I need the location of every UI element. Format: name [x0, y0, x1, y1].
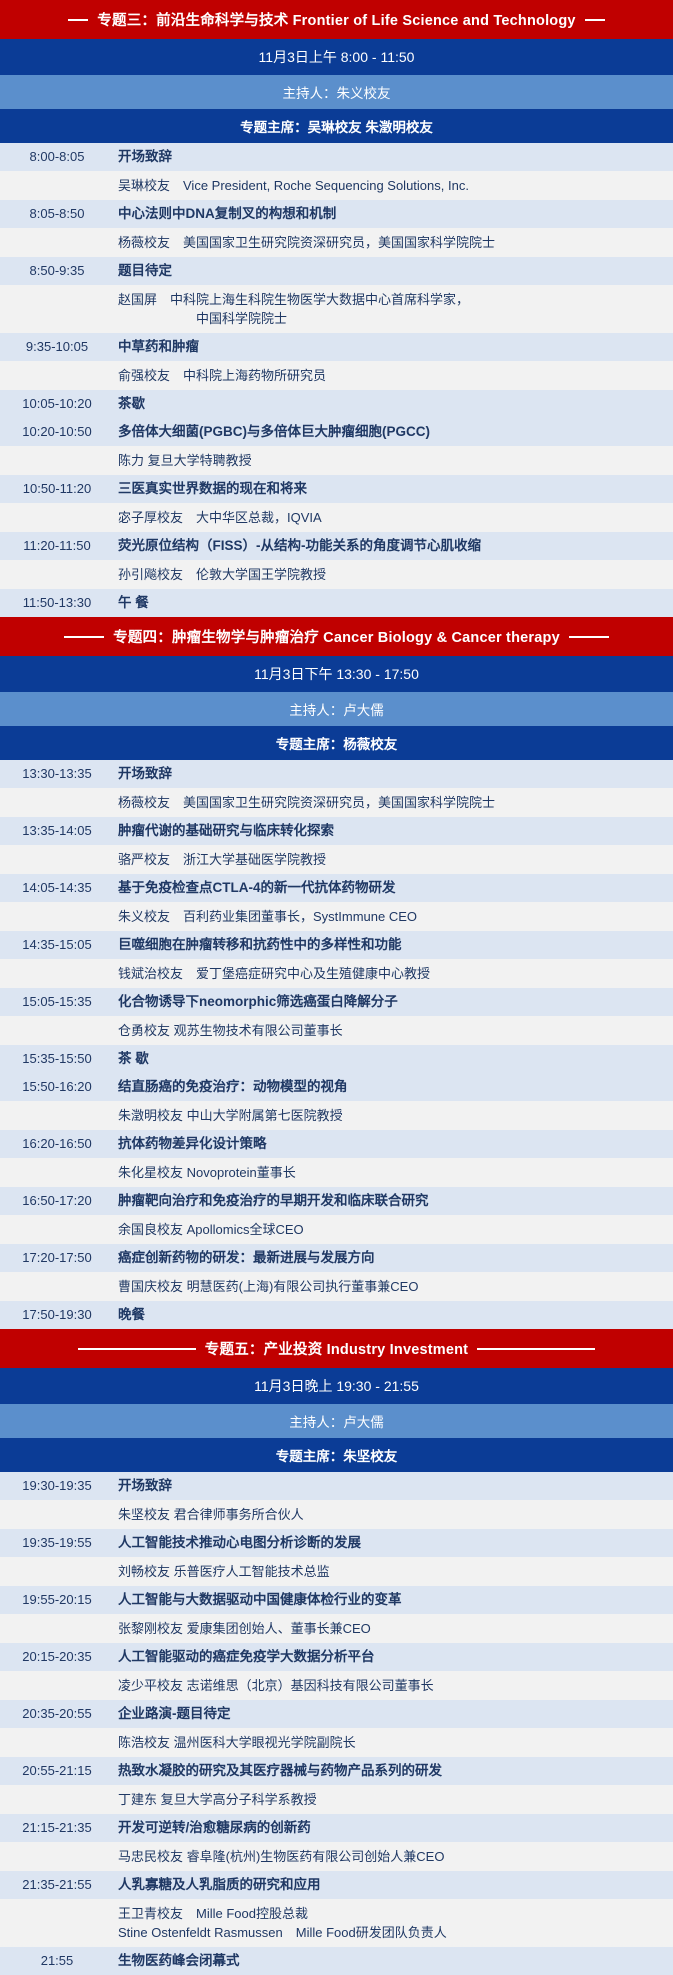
agenda-speaker-row: 杨薇校友 美国国家卫生研究院资深研究员，美国国家科学院院士 — [0, 228, 673, 257]
agenda-title-cell: 生物医药峰会闭幕式 — [118, 1952, 673, 1970]
section-date-bar: 11月3日晚上 19:30 - 21:55 — [0, 1368, 673, 1404]
agenda-speaker-cell: 陈力 复旦大学特聘教授 — [118, 451, 673, 470]
agenda-talk-title: 开发可逆转/治愈糖尿病的创新药 — [118, 1819, 665, 1837]
agenda-speaker-cell: 张黎刚校友 爱康集团创始人、董事长兼CEO — [118, 1619, 673, 1638]
agenda-speaker-cell: 吴琳校友 Vice President, Roche Sequencing So… — [118, 176, 673, 195]
agenda-time: 8:00-8:05 — [0, 148, 118, 166]
agenda-title-cell: 荧光原位结构（FISS）-从结构-功能关系的角度调节心肌收缩 — [118, 537, 673, 555]
agenda-talk-title: 中草药和肿瘤 — [118, 338, 665, 356]
agenda-time: 17:50-19:30 — [0, 1306, 118, 1324]
banner-rule-right-icon — [477, 1348, 595, 1350]
agenda-speaker-cell: 杨薇校友 美国国家卫生研究院资深研究员，美国国家科学院院士 — [118, 793, 673, 812]
agenda-time: 8:05-8:50 — [0, 205, 118, 223]
agenda-speaker-row: 朱澂明校友 中山大学附属第七医院教授 — [0, 1101, 673, 1130]
agenda-time: 9:35-10:05 — [0, 338, 118, 356]
agenda-speaker-row: 宓子厚校友 大中华区总裁，IQVIA — [0, 503, 673, 532]
agenda-speaker-cell: 朱化星校友 Novoprotein董事长 — [118, 1163, 673, 1182]
agenda-title-cell: 基于免疫检查点CTLA-4的新一代抗体药物研发 — [118, 879, 673, 897]
conference-agenda: 专题三：前沿生命科学与技术 Frontier of Life Science a… — [0, 0, 673, 1975]
agenda-speaker-affiliation: 朱澂明校友 中山大学附属第七医院教授 — [118, 1106, 665, 1125]
agenda-talk-title: 晚餐 — [118, 1306, 665, 1324]
agenda-speaker-affiliation: 王卫青校友 Mille Food控股总裁 Stine Ostenfeldt Ra… — [118, 1904, 665, 1942]
agenda-talk-title: 生物医药峰会闭幕式 — [118, 1952, 665, 1970]
agenda-talk-title: 癌症创新药物的研发：最新进展与发展方向 — [118, 1249, 665, 1267]
agenda-title-row: 19:30-19:35开场致辞 — [0, 1472, 673, 1500]
agenda-time: 14:35-15:05 — [0, 936, 118, 954]
agenda-title-row: 20:55-21:15热致水凝胶的研究及其医疗器械与药物产品系列的研发 — [0, 1757, 673, 1785]
agenda-speaker-cell: 朱澂明校友 中山大学附属第七医院教授 — [118, 1106, 673, 1125]
agenda-speaker-cell: 曹国庆校友 明慧医药(上海)有限公司执行董事兼CEO — [118, 1277, 673, 1296]
section-chair-bar: 专题主席：朱坚校友 — [0, 1438, 673, 1472]
agenda-speaker-affiliation: 杨薇校友 美国国家卫生研究院资深研究员，美国国家科学院院士 — [118, 793, 665, 812]
agenda-title-cell: 茶歇 — [118, 395, 673, 413]
agenda-time: 10:50-11:20 — [0, 480, 118, 498]
banner-rule-right-icon — [585, 19, 605, 21]
agenda-time: 15:05-15:35 — [0, 993, 118, 1011]
agenda-title-cell: 癌症创新药物的研发：最新进展与发展方向 — [118, 1249, 673, 1267]
agenda-talk-title: 三医真实世界数据的现在和将来 — [118, 480, 665, 498]
agenda-time: 11:20-11:50 — [0, 537, 118, 555]
agenda-speaker-cell: 孙引飚校友 伦敦大学国王学院教授 — [118, 565, 673, 584]
agenda-speaker-row: 俞强校友 中科院上海药物所研究员 — [0, 361, 673, 390]
agenda-time: 10:20-10:50 — [0, 423, 118, 441]
agenda-speaker-cell: 余国良校友 Apollomics全球CEO — [118, 1220, 673, 1239]
agenda-title-row: 15:35-15:50茶 歇 — [0, 1045, 673, 1073]
agenda-title-row: 11:50-13:30午 餐 — [0, 589, 673, 617]
agenda-speaker-row: 朱义校友 百利药业集团董事长，SystImmune CEO — [0, 902, 673, 931]
banner-rule-left-icon — [78, 1348, 196, 1350]
section-title: 专题五：产业投资 Industry Investment — [205, 1338, 468, 1359]
agenda-title-cell: 开场致辞 — [118, 148, 673, 166]
agenda-talk-title: 中心法则中DNA复制叉的构想和机制 — [118, 205, 665, 223]
agenda-title-cell: 抗体药物差异化设计策略 — [118, 1135, 673, 1153]
agenda-talk-title: 结直肠癌的免疫治疗：动物模型的视角 — [118, 1078, 665, 1096]
agenda-title-cell: 中草药和肿瘤 — [118, 338, 673, 356]
agenda-title-cell: 肿瘤靶向治疗和免疫治疗的早期开发和临床联合研究 — [118, 1192, 673, 1210]
agenda-speaker-cell: 马忠民校友 睿阜隆(杭州)生物医药有限公司创始人兼CEO — [118, 1847, 673, 1866]
agenda-speaker-affiliation: 杨薇校友 美国国家卫生研究院资深研究员，美国国家科学院院士 — [118, 233, 665, 252]
agenda-speaker-affiliation: 陈力 复旦大学特聘教授 — [118, 451, 665, 470]
agenda-time: 19:55-20:15 — [0, 1591, 118, 1609]
section-date-bar: 11月3日下午 13:30 - 17:50 — [0, 656, 673, 692]
agenda-title-cell: 人工智能技术推动心电图分析诊断的发展 — [118, 1534, 673, 1552]
agenda-time: 19:30-19:35 — [0, 1477, 118, 1495]
agenda-title-cell: 三医真实世界数据的现在和将来 — [118, 480, 673, 498]
agenda-title-cell: 人乳寡糖及人乳脂质的研究和应用 — [118, 1876, 673, 1894]
agenda-speaker-cell: 骆严校友 浙江大学基础医学院教授 — [118, 850, 673, 869]
agenda-speaker-affiliation: 刘畅校友 乐普医疗人工智能技术总监 — [118, 1562, 665, 1581]
agenda-title-row: 17:50-19:30晚餐 — [0, 1301, 673, 1329]
agenda-title-row: 20:15-20:35人工智能驱动的癌症免疫学大数据分析平台 — [0, 1643, 673, 1671]
agenda-title-cell: 热致水凝胶的研究及其医疗器械与药物产品系列的研发 — [118, 1762, 673, 1780]
agenda-talk-title: 荧光原位结构（FISS）-从结构-功能关系的角度调节心肌收缩 — [118, 537, 665, 555]
section-banner: 专题三：前沿生命科学与技术 Frontier of Life Science a… — [0, 0, 673, 39]
section-date-bar: 11月3日上午 8:00 - 11:50 — [0, 39, 673, 75]
agenda-talk-title: 开场致辞 — [118, 148, 665, 166]
agenda-time: 13:35-14:05 — [0, 822, 118, 840]
agenda-speaker-cell: 刘畅校友 乐普医疗人工智能技术总监 — [118, 1562, 673, 1581]
agenda-title-cell: 题目待定 — [118, 262, 673, 280]
agenda-speaker-row: 朱化星校友 Novoprotein董事长 — [0, 1158, 673, 1187]
agenda-talk-title: 抗体药物差异化设计策略 — [118, 1135, 665, 1153]
agenda-time: 20:55-21:15 — [0, 1762, 118, 1780]
agenda-speaker-affiliation: 钱斌治校友 爱丁堡癌症研究中心及生殖健康中心教授 — [118, 964, 665, 983]
agenda-speaker-affiliation: 朱坚校友 君合律师事务所合伙人 — [118, 1505, 665, 1524]
section-banner: 专题五：产业投资 Industry Investment — [0, 1329, 673, 1368]
agenda-talk-title: 题目待定 — [118, 262, 665, 280]
agenda-speaker-affiliation: 宓子厚校友 大中华区总裁，IQVIA — [118, 508, 665, 527]
agenda-title-row: 15:50-16:20结直肠癌的免疫治疗：动物模型的视角 — [0, 1073, 673, 1101]
agenda-talk-title: 开场致辞 — [118, 765, 665, 783]
agenda-time: 15:50-16:20 — [0, 1078, 118, 1096]
agenda-speaker-cell: 朱坚校友 君合律师事务所合伙人 — [118, 1505, 673, 1524]
agenda-talk-title: 茶歇 — [118, 395, 665, 413]
agenda-speaker-cell: 杨薇校友 美国国家卫生研究院资深研究员，美国国家科学院院士 — [118, 233, 673, 252]
agenda-title-row: 8:05-8:50中心法则中DNA复制叉的构想和机制 — [0, 200, 673, 228]
agenda-title-cell: 开发可逆转/治愈糖尿病的创新药 — [118, 1819, 673, 1837]
section-title: 专题三：前沿生命科学与技术 Frontier of Life Science a… — [97, 9, 575, 30]
agenda-speaker-row: 余国良校友 Apollomics全球CEO — [0, 1215, 673, 1244]
agenda-title-row: 19:55-20:15人工智能与大数据驱动中国健康体检行业的变革 — [0, 1586, 673, 1614]
agenda-talk-title: 人工智能与大数据驱动中国健康体检行业的变革 — [118, 1591, 665, 1609]
agenda-title-row: 8:00-8:05开场致辞 — [0, 143, 673, 171]
agenda-speaker-affiliation: 曹国庆校友 明慧医药(上海)有限公司执行董事兼CEO — [118, 1277, 665, 1296]
agenda-talk-title: 巨噬细胞在肿瘤转移和抗药性中的多样性和功能 — [118, 936, 665, 954]
agenda-title-row: 11:20-11:50荧光原位结构（FISS）-从结构-功能关系的角度调节心肌收… — [0, 532, 673, 560]
agenda-time: 19:35-19:55 — [0, 1534, 118, 1552]
agenda-speaker-cell: 宓子厚校友 大中华区总裁，IQVIA — [118, 508, 673, 527]
agenda-talk-title: 多倍体大细菌(PGBC)与多倍体巨大肿瘤细胞(PGCC) — [118, 423, 665, 441]
agenda-speaker-cell: 王卫青校友 Mille Food控股总裁 Stine Ostenfeldt Ra… — [118, 1904, 673, 1942]
agenda-speaker-row: 朱坚校友 君合律师事务所合伙人 — [0, 1500, 673, 1529]
agenda-time: 21:35-21:55 — [0, 1876, 118, 1894]
agenda-speaker-cell: 钱斌治校友 爱丁堡癌症研究中心及生殖健康中心教授 — [118, 964, 673, 983]
agenda-talk-title: 茶 歇 — [118, 1050, 665, 1068]
agenda-time: 20:15-20:35 — [0, 1648, 118, 1666]
agenda-speaker-row: 陈力 复旦大学特聘教授 — [0, 446, 673, 475]
agenda-speaker-cell: 仓勇校友 观苏生物技术有限公司董事长 — [118, 1021, 673, 1040]
agenda-speaker-cell: 朱义校友 百利药业集团董事长，SystImmune CEO — [118, 907, 673, 926]
agenda-title-row: 16:20-16:50抗体药物差异化设计策略 — [0, 1130, 673, 1158]
agenda-speaker-row: 马忠民校友 睿阜隆(杭州)生物医药有限公司创始人兼CEO — [0, 1842, 673, 1871]
agenda-time: 14:05-14:35 — [0, 879, 118, 897]
agenda-speaker-affiliation: 丁建东 复旦大学高分子科学系教授 — [118, 1790, 665, 1809]
agenda-title-cell: 多倍体大细菌(PGBC)与多倍体巨大肿瘤细胞(PGCC) — [118, 423, 673, 441]
agenda-talk-title: 肿瘤靶向治疗和免疫治疗的早期开发和临床联合研究 — [118, 1192, 665, 1210]
agenda-speaker-row: 杨薇校友 美国国家卫生研究院资深研究员，美国国家科学院院士 — [0, 788, 673, 817]
agenda-speaker-affiliation: 余国良校友 Apollomics全球CEO — [118, 1220, 665, 1239]
agenda-title-row: 13:30-13:35开场致辞 — [0, 760, 673, 788]
agenda-time: 21:55 — [0, 1952, 118, 1970]
agenda-speaker-cell: 陈浩校友 温州医科大学眼视光学院副院长 — [118, 1733, 673, 1752]
agenda-title-cell: 中心法则中DNA复制叉的构想和机制 — [118, 205, 673, 223]
agenda-speaker-row: 王卫青校友 Mille Food控股总裁 Stine Ostenfeldt Ra… — [0, 1899, 673, 1947]
agenda-time: 21:15-21:35 — [0, 1819, 118, 1837]
agenda-speaker-row: 陈浩校友 温州医科大学眼视光学院副院长 — [0, 1728, 673, 1757]
banner-rule-left-icon — [64, 636, 104, 638]
banner-rule-right-icon — [569, 636, 609, 638]
agenda-title-cell: 晚餐 — [118, 1306, 673, 1324]
section-host-bar: 主持人：卢大儒 — [0, 692, 673, 726]
agenda-speaker-row: 凌少平校友 志诺维思（北京）基因科技有限公司董事长 — [0, 1671, 673, 1700]
agenda-speaker-row: 仓勇校友 观苏生物技术有限公司董事长 — [0, 1016, 673, 1045]
agenda-title-row: 13:35-14:05肿瘤代谢的基础研究与临床转化探索 — [0, 817, 673, 845]
banner-rule-left-icon — [68, 19, 88, 21]
agenda-speaker-cell: 赵国屏 中科院上海生科院生物医学大数据中心首席科学家， 中国科学院院士 — [118, 290, 673, 328]
agenda-time: 20:35-20:55 — [0, 1705, 118, 1723]
agenda-speaker-row: 吴琳校友 Vice President, Roche Sequencing So… — [0, 171, 673, 200]
agenda-speaker-affiliation: 马忠民校友 睿阜隆(杭州)生物医药有限公司创始人兼CEO — [118, 1847, 665, 1866]
agenda-title-row: 20:35-20:55企业路演-题目待定 — [0, 1700, 673, 1728]
agenda-talk-title: 热致水凝胶的研究及其医疗器械与药物产品系列的研发 — [118, 1762, 665, 1780]
agenda-speaker-row: 赵国屏 中科院上海生科院生物医学大数据中心首席科学家， 中国科学院院士 — [0, 285, 673, 333]
agenda-speaker-row: 钱斌治校友 爱丁堡癌症研究中心及生殖健康中心教授 — [0, 959, 673, 988]
agenda-speaker-affiliation: 仓勇校友 观苏生物技术有限公司董事长 — [118, 1021, 665, 1040]
agenda-title-cell: 人工智能与大数据驱动中国健康体检行业的变革 — [118, 1591, 673, 1609]
agenda-speaker-affiliation: 孙引飚校友 伦敦大学国王学院教授 — [118, 565, 665, 584]
agenda-title-row: 17:20-17:50癌症创新药物的研发：最新进展与发展方向 — [0, 1244, 673, 1272]
agenda-talk-title: 午 餐 — [118, 594, 665, 612]
agenda-time: 10:05-10:20 — [0, 395, 118, 413]
section-chair-bar: 专题主席：吴琳校友 朱澂明校友 — [0, 109, 673, 143]
agenda-title-row: 21:55生物医药峰会闭幕式 — [0, 1947, 673, 1975]
agenda-title-cell: 结直肠癌的免疫治疗：动物模型的视角 — [118, 1078, 673, 1096]
agenda-talk-title: 开场致辞 — [118, 1477, 665, 1495]
agenda-title-row: 10:05-10:20茶歇 — [0, 390, 673, 418]
agenda-time: 16:20-16:50 — [0, 1135, 118, 1153]
agenda-talk-title: 化合物诱导下neomorphic筛选癌蛋白降解分子 — [118, 993, 665, 1011]
agenda-speaker-affiliation: 俞强校友 中科院上海药物所研究员 — [118, 366, 665, 385]
agenda-speaker-cell: 丁建东 复旦大学高分子科学系教授 — [118, 1790, 673, 1809]
agenda-time: 16:50-17:20 — [0, 1192, 118, 1210]
agenda-speaker-affiliation: 朱义校友 百利药业集团董事长，SystImmune CEO — [118, 907, 665, 926]
agenda-title-row: 9:35-10:05中草药和肿瘤 — [0, 333, 673, 361]
agenda-title-cell: 肿瘤代谢的基础研究与临床转化探索 — [118, 822, 673, 840]
agenda-title-cell: 午 餐 — [118, 594, 673, 612]
agenda-speaker-affiliation: 骆严校友 浙江大学基础医学院教授 — [118, 850, 665, 869]
agenda-time: 8:50-9:35 — [0, 262, 118, 280]
agenda-title-cell: 人工智能驱动的癌症免疫学大数据分析平台 — [118, 1648, 673, 1666]
section-title: 专题四：肿瘤生物学与肿瘤治疗 Cancer Biology & Cancer t… — [113, 626, 560, 647]
agenda-speaker-affiliation: 凌少平校友 志诺维思（北京）基因科技有限公司董事长 — [118, 1676, 665, 1695]
agenda-title-cell: 开场致辞 — [118, 1477, 673, 1495]
agenda-time: 15:35-15:50 — [0, 1050, 118, 1068]
agenda-speaker-affiliation: 赵国屏 中科院上海生科院生物医学大数据中心首席科学家， 中国科学院院士 — [118, 290, 665, 328]
agenda-time: 11:50-13:30 — [0, 594, 118, 612]
agenda-title-cell: 企业路演-题目待定 — [118, 1705, 673, 1723]
agenda-speaker-affiliation: 吴琳校友 Vice President, Roche Sequencing So… — [118, 176, 665, 195]
agenda-talk-title: 企业路演-题目待定 — [118, 1705, 665, 1723]
agenda-title-cell: 巨噬细胞在肿瘤转移和抗药性中的多样性和功能 — [118, 936, 673, 954]
agenda-title-cell: 化合物诱导下neomorphic筛选癌蛋白降解分子 — [118, 993, 673, 1011]
agenda-time: 13:30-13:35 — [0, 765, 118, 783]
agenda-speaker-cell: 俞强校友 中科院上海药物所研究员 — [118, 366, 673, 385]
agenda-speaker-row: 张黎刚校友 爱康集团创始人、董事长兼CEO — [0, 1614, 673, 1643]
agenda-title-row: 14:05-14:35基于免疫检查点CTLA-4的新一代抗体药物研发 — [0, 874, 673, 902]
section-host-bar: 主持人：朱义校友 — [0, 75, 673, 109]
agenda-title-row: 15:05-15:35化合物诱导下neomorphic筛选癌蛋白降解分子 — [0, 988, 673, 1016]
agenda-speaker-row: 丁建东 复旦大学高分子科学系教授 — [0, 1785, 673, 1814]
agenda-talk-title: 人工智能技术推动心电图分析诊断的发展 — [118, 1534, 665, 1552]
section-host-bar: 主持人：卢大儒 — [0, 1404, 673, 1438]
agenda-speaker-affiliation: 张黎刚校友 爱康集团创始人、董事长兼CEO — [118, 1619, 665, 1638]
agenda-speaker-row: 骆严校友 浙江大学基础医学院教授 — [0, 845, 673, 874]
agenda-speaker-row: 曹国庆校友 明慧医药(上海)有限公司执行董事兼CEO — [0, 1272, 673, 1301]
agenda-title-row: 19:35-19:55人工智能技术推动心电图分析诊断的发展 — [0, 1529, 673, 1557]
agenda-title-cell: 开场致辞 — [118, 765, 673, 783]
agenda-title-cell: 茶 歇 — [118, 1050, 673, 1068]
agenda-title-row: 10:50-11:20三医真实世界数据的现在和将来 — [0, 475, 673, 503]
agenda-talk-title: 肿瘤代谢的基础研究与临床转化探索 — [118, 822, 665, 840]
agenda-title-row: 21:35-21:55人乳寡糖及人乳脂质的研究和应用 — [0, 1871, 673, 1899]
agenda-title-row: 21:15-21:35开发可逆转/治愈糖尿病的创新药 — [0, 1814, 673, 1842]
agenda-talk-title: 人工智能驱动的癌症免疫学大数据分析平台 — [118, 1648, 665, 1666]
agenda-talk-title: 基于免疫检查点CTLA-4的新一代抗体药物研发 — [118, 879, 665, 897]
agenda-title-row: 14:35-15:05巨噬细胞在肿瘤转移和抗药性中的多样性和功能 — [0, 931, 673, 959]
agenda-speaker-cell: 凌少平校友 志诺维思（北京）基因科技有限公司董事长 — [118, 1676, 673, 1695]
agenda-time: 17:20-17:50 — [0, 1249, 118, 1267]
agenda-title-row: 8:50-9:35题目待定 — [0, 257, 673, 285]
section-banner: 专题四：肿瘤生物学与肿瘤治疗 Cancer Biology & Cancer t… — [0, 617, 673, 656]
agenda-speaker-affiliation: 陈浩校友 温州医科大学眼视光学院副院长 — [118, 1733, 665, 1752]
agenda-speaker-affiliation: 朱化星校友 Novoprotein董事长 — [118, 1163, 665, 1182]
agenda-title-row: 16:50-17:20肿瘤靶向治疗和免疫治疗的早期开发和临床联合研究 — [0, 1187, 673, 1215]
agenda-title-row: 10:20-10:50多倍体大细菌(PGBC)与多倍体巨大肿瘤细胞(PGCC) — [0, 418, 673, 446]
agenda-talk-title: 人乳寡糖及人乳脂质的研究和应用 — [118, 1876, 665, 1894]
agenda-speaker-row: 刘畅校友 乐普医疗人工智能技术总监 — [0, 1557, 673, 1586]
agenda-speaker-row: 孙引飚校友 伦敦大学国王学院教授 — [0, 560, 673, 589]
section-chair-bar: 专题主席：杨薇校友 — [0, 726, 673, 760]
